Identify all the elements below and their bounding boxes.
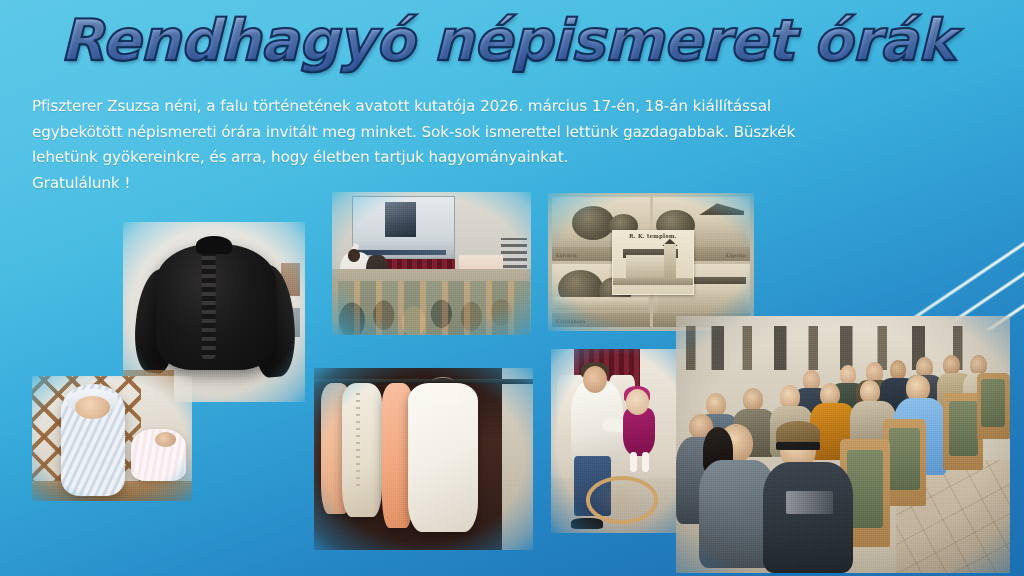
jacket-placket (201, 247, 216, 359)
streak-line (804, 222, 1024, 330)
slide-body-text: Pfiszterer Zsuzsa néni, a falu történeté… (32, 94, 932, 196)
chair (977, 373, 1010, 440)
chair-back (981, 379, 1005, 427)
slide-title-container: Rendhagyó népismeret órák (0, 12, 1024, 71)
panel-caption: Kápolna (726, 254, 746, 259)
doll-face (75, 396, 110, 419)
presenter-head (583, 366, 607, 394)
student-glasses (776, 442, 819, 450)
doll-dress (623, 408, 655, 456)
photo-scene: Kálvária Kápolna Községháza (548, 193, 754, 331)
hoodie-logo (786, 491, 833, 514)
doll-leg (630, 452, 637, 472)
photo-vintage-postcard: Kálvária Kápolna Községháza (548, 193, 754, 331)
student-head (743, 388, 763, 411)
jacket-collar (196, 236, 232, 254)
photo-scene (32, 376, 192, 501)
photo-scene (123, 222, 305, 402)
doll-head (626, 389, 649, 415)
presentation-slide: Rendhagyó népismeret órák Pfiszterer Zsu… (0, 0, 1024, 576)
presenter-shoe (571, 518, 603, 529)
student-head (860, 380, 880, 403)
student-head (706, 393, 726, 416)
photo-scene (551, 349, 695, 533)
projection-screen (352, 196, 455, 259)
blouse-collar (428, 384, 459, 402)
chair-back (949, 401, 978, 457)
panel-caption: Községháza (556, 320, 585, 325)
photo-swaddled-dolls (32, 376, 192, 501)
photo-scene (332, 192, 531, 335)
page-title: Rendhagyó népismeret órák (64, 12, 961, 71)
photo-student-audience (676, 316, 1010, 573)
projected-caption-bar (357, 250, 446, 255)
panel-building (695, 215, 746, 247)
photo-traditional-jacket (123, 222, 305, 402)
photo-scene (676, 316, 1010, 573)
projected-image (385, 202, 415, 237)
doll-leg (642, 452, 649, 472)
chair-back (889, 428, 920, 491)
student-torso-front-center (763, 462, 853, 573)
body-line-4: Gratulálunk ! (32, 171, 932, 197)
postcard-center-title: R. K. templom. (613, 234, 693, 240)
photo-lecture-hall (332, 192, 531, 335)
student-head (906, 375, 929, 401)
blouse-cream (342, 383, 381, 518)
chair-rows (332, 281, 531, 335)
church-foreground (613, 278, 693, 286)
panel-caption: Kálvária (556, 254, 577, 259)
background-wall (502, 368, 533, 550)
blouse-white (408, 383, 478, 532)
photo-hanging-blouses (314, 368, 533, 550)
body-line-2: egybekötött népismereti órára invitált m… (32, 120, 932, 146)
blouse-button-row (356, 393, 360, 488)
panel-building (554, 297, 648, 311)
wooden-baby-walker (586, 476, 658, 524)
postcard-center-inset: R. K. templom. (612, 230, 694, 295)
body-line-1: Pfiszterer Zsuzsa néni, a falu történeté… (32, 94, 932, 120)
photo-scene (314, 368, 533, 550)
body-line-3: lehetünk gyökereinkre, és arra, hogy éle… (32, 145, 932, 171)
panel-tree (572, 206, 615, 240)
presenter-head (348, 249, 360, 262)
photo-presenter-with-doll (551, 349, 695, 533)
